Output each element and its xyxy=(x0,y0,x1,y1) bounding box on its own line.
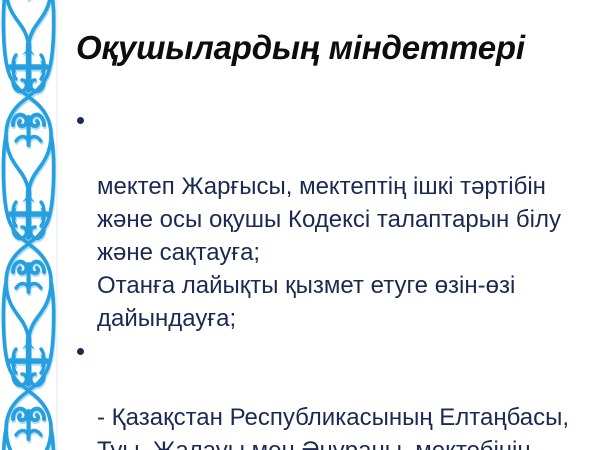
bullet-dot-icon xyxy=(77,117,84,124)
kazakh-ornament-border xyxy=(0,0,57,450)
slide-title: Оқушылардың міндеттері xyxy=(76,27,586,69)
presentation-slide: Оқушылардың міндеттері мектеп Жарғысы, м… xyxy=(0,0,600,450)
bullet-dot-icon xyxy=(77,348,84,355)
list-item-text: мектеп Жарғысы, мектептің ішкі тәртібін … xyxy=(97,173,561,332)
list-item-text: - Қазақстан Республикасының Елтаңбасы, Т… xyxy=(97,404,569,450)
ornament-pattern-icon xyxy=(0,0,57,450)
list-item: мектеп Жарғысы, мектептің ішкі тәртібін … xyxy=(70,104,590,335)
slide-bullet-list: мектеп Жарғысы, мектептің ішкі тәртібін … xyxy=(70,104,590,450)
list-item: - Қазақстан Республикасының Елтаңбасы, Т… xyxy=(70,335,590,450)
ornament-right-edge xyxy=(56,0,58,450)
